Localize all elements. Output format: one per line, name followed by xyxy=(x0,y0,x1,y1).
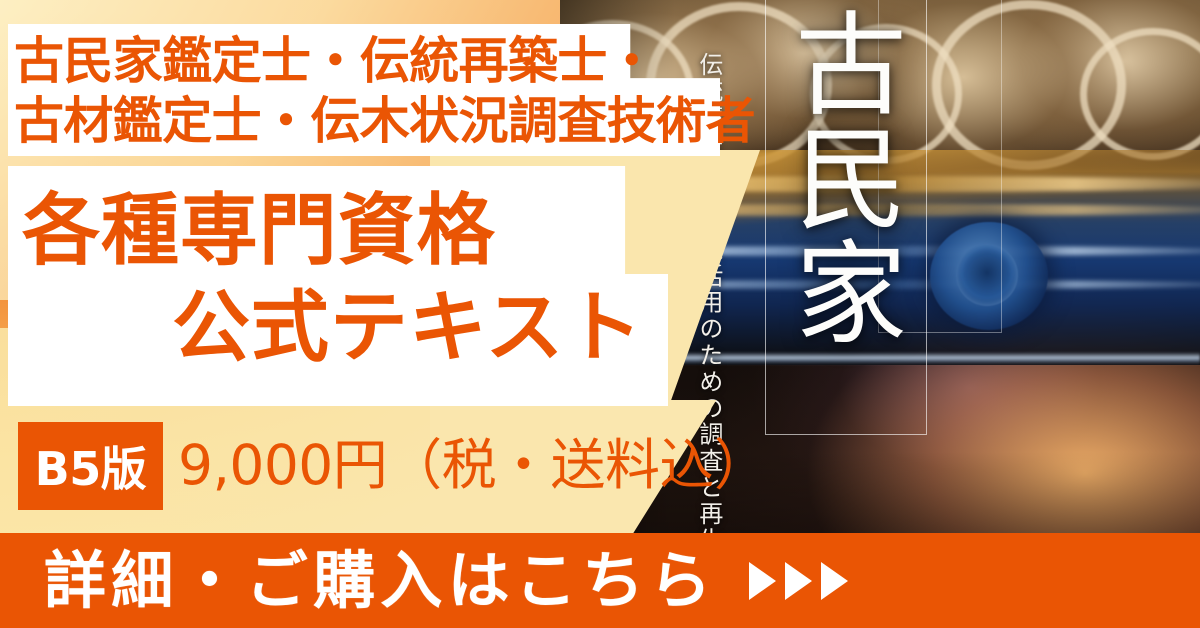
promo-banner: 古民家 伝統構法、古民家活用のための調査と再生の 古民家鑑定士・伝統再築士・ 古… xyxy=(0,0,1200,628)
cta-content[interactable]: 詳細・ご購入はこちら xyxy=(44,550,848,612)
title-line-1: 各種専門資格 xyxy=(22,192,496,270)
title-line-2: 公式テキスト xyxy=(172,289,643,367)
headline-block: 古民家鑑定士・伝統再築士・ 古材鑑定士・伝木状況調査技術者 xyxy=(14,30,714,152)
cover-title-vertical: 古民家 xyxy=(782,6,908,349)
headline-line-2: 古材鑑定士・伝木状況調査技術者 xyxy=(14,90,714,152)
format-badge-label: B5版 xyxy=(18,422,163,510)
headline-line-1: 古民家鑑定士・伝統再築士・ xyxy=(14,30,714,92)
triangle-right-icon xyxy=(821,562,848,600)
cta-arrows xyxy=(749,562,848,600)
triangle-right-icon xyxy=(749,562,776,600)
format-badge: B5版 xyxy=(18,422,163,510)
cta-bar[interactable]: 詳細・ご購入はこちら xyxy=(0,533,1200,628)
price-label: 9,000円（税・送料込） xyxy=(178,428,768,502)
triangle-right-icon xyxy=(785,562,812,600)
cta-label: 詳細・ご購入はこちら xyxy=(44,550,717,612)
